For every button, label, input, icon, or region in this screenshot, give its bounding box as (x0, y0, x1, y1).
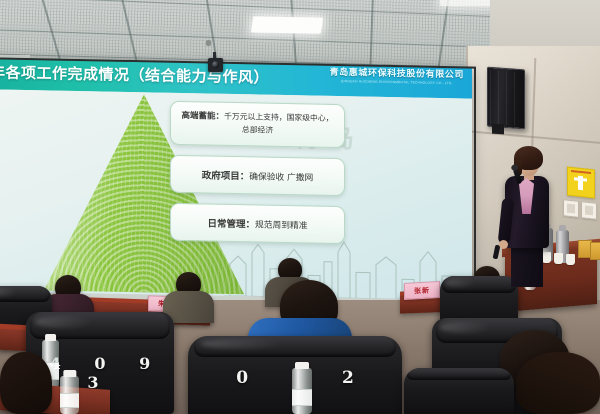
chair (404, 368, 514, 414)
company-logo-english: QINGDAO HUICHENG ENVIRONMENTAL TECHNOLOG… (330, 80, 464, 86)
slide-text-box-3: 日常管理：规范周到精准 (170, 203, 345, 244)
attendee-head (516, 352, 600, 414)
cup (542, 252, 551, 263)
light-switch[interactable] (581, 201, 597, 220)
slide-box-1-lead: 高端蓄能： (182, 111, 225, 122)
slide-text-box-2: 政府项目：确保验收 广撒网 (170, 155, 345, 196)
cup (566, 254, 575, 265)
slide-title: 年各项工作完成情况（结合能力与作风） (0, 61, 269, 87)
slide-text-box-1: 高端蓄能：千万元以上支持，国家级中心，总部经济 (170, 101, 345, 148)
slide-box-3-rest: 规范周到精准 (255, 220, 307, 231)
bottle-label (60, 393, 79, 408)
light-switch[interactable] (563, 199, 579, 218)
ceiling-light-panel (251, 16, 323, 33)
slide-box-2-rest: 确保验收 广撒网 (249, 172, 313, 183)
speaker-mount-bracket (492, 124, 504, 135)
ceiling-projector (208, 58, 223, 72)
ceiling-light-panel (440, 0, 497, 6)
water-bottle (60, 376, 79, 414)
supply-box (590, 242, 600, 260)
water-bottle (292, 368, 312, 414)
presentation-room-photo: 年各项工作完成情况（结合能力与作风） 青岛惠城环保科技股份有限公司 QINGDA… (0, 0, 600, 414)
sign-pictogram-icon (574, 175, 587, 190)
bottle-cap (45, 334, 57, 341)
attendee-head (0, 352, 52, 414)
cup (554, 253, 563, 264)
chair-highlight (445, 279, 476, 287)
slide-body: 青岛 (0, 89, 472, 302)
chair-headrest (407, 368, 510, 380)
presenter-legs (511, 243, 543, 287)
wall-speaker (487, 67, 525, 130)
wall-safety-sign (567, 167, 595, 199)
projection-screen: 年各项工作完成情况（结合能力与作风） 青岛惠城环保科技股份有限公司 QINGDA… (0, 57, 472, 302)
bottle-cap (295, 362, 309, 369)
slide-box-2-lead: 政府项目： (202, 170, 250, 182)
bottle-cap (63, 370, 76, 377)
company-logo: 青岛惠城环保科技股份有限公司 QINGDAO HUICHENG ENVIRONM… (330, 69, 464, 86)
speaker-grill-icon (490, 70, 522, 126)
presenter-hand (499, 240, 508, 249)
slide-box-1-rest: 千万元以上支持，国家级中心，总部经济 (224, 112, 333, 135)
sign-title-bar (571, 170, 591, 174)
ceiling-sprinkler-icon (206, 40, 211, 46)
nameplate: 张新 (404, 281, 440, 300)
slide-box-3-lead: 日常管理： (208, 219, 256, 231)
bottle-label (292, 389, 312, 407)
